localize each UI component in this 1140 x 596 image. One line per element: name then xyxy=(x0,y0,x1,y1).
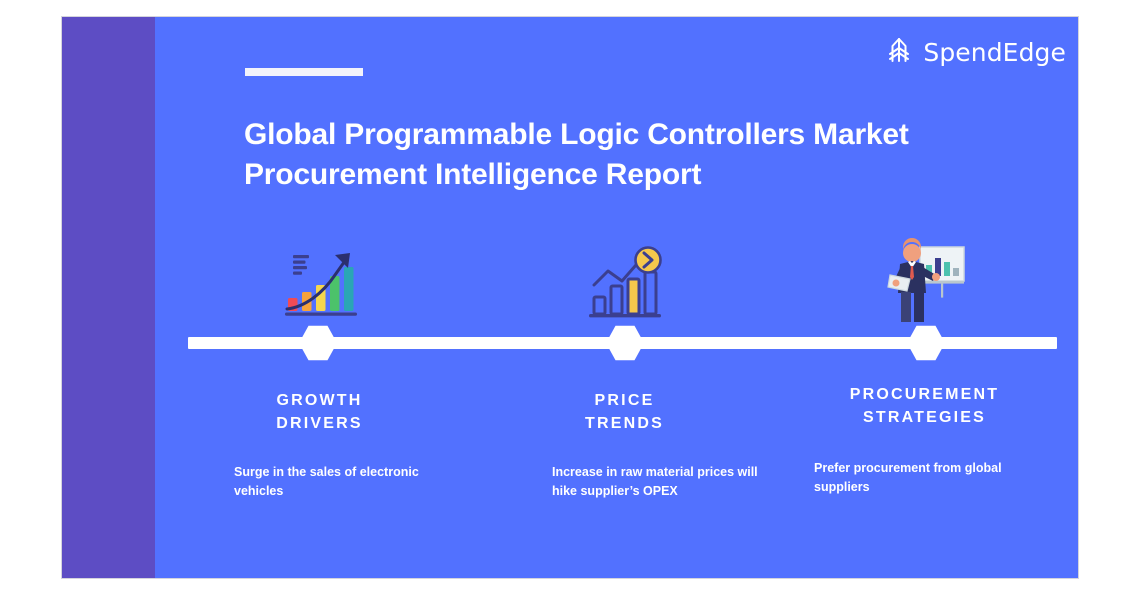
growth-bar-chart-arrow-icon xyxy=(182,239,457,325)
column-heading-line-1: PRICE xyxy=(487,389,762,412)
timeline-column-procurement-strategies: PROCUREMENT STRATEGIES Prefer procuremen… xyxy=(787,239,1062,325)
logo-wordmark: SpendEdge xyxy=(923,38,1066,67)
column-body-line-2: suppliers xyxy=(814,478,1034,497)
spendedge-trident-mark-icon xyxy=(884,35,914,70)
timeline-marker-procurement-strategies xyxy=(907,325,945,361)
column-heading-line-1: PROCUREMENT xyxy=(787,383,1062,406)
column-heading-growth-drivers: GROWTH DRIVERS xyxy=(182,389,457,435)
page-title: Global Programmable Logic Controllers Ma… xyxy=(244,115,1004,195)
column-body-procurement-strategies: Prefer procurement from global suppliers xyxy=(814,459,1034,497)
timeline-marker-growth-drivers xyxy=(299,325,337,361)
column-heading-line-2: TRENDS xyxy=(487,412,762,435)
column-heading-line-2: STRATEGIES xyxy=(787,406,1062,429)
title-accent-bar xyxy=(245,68,363,76)
screenshot-canvas: SpendEdge Global Programmable Logic Cont… xyxy=(0,0,1140,596)
page-title-line-1: Global Programmable Logic Controllers Ma… xyxy=(244,115,1004,155)
column-body-line-1: Surge in the sales of electronic xyxy=(234,463,449,482)
timeline-column-price-trends: PRICE TRENDS Increase in raw material pr… xyxy=(487,239,762,325)
column-body-line-1: Increase in raw material prices will xyxy=(552,463,787,482)
column-body-line-2: hike supplier’s OPEX xyxy=(552,482,787,501)
column-body-line-2: vehicles xyxy=(234,482,449,501)
column-body-price-trends: Increase in raw material prices will hik… xyxy=(552,463,787,501)
column-heading-line-1: GROWTH xyxy=(182,389,457,412)
page-title-line-2: Procurement Intelligence Report xyxy=(244,155,1004,195)
spendedge-logo: SpendEdge xyxy=(884,35,1066,70)
column-body-line-1: Prefer procurement from global xyxy=(814,459,1034,478)
timeline-column-growth-drivers: GROWTH DRIVERS Surge in the sales of ele… xyxy=(182,239,457,325)
price-chart-coin-icon xyxy=(487,239,762,325)
presentation-slide: SpendEdge Global Programmable Logic Cont… xyxy=(62,17,1078,578)
column-heading-line-2: DRIVERS xyxy=(182,412,457,435)
column-heading-procurement-strategies: PROCUREMENT STRATEGIES xyxy=(787,383,1062,429)
left-accent-band xyxy=(62,17,155,578)
timeline-marker-price-trends xyxy=(606,325,644,361)
presenter-businessman-chart-board-icon xyxy=(787,239,1062,325)
column-heading-price-trends: PRICE TRENDS xyxy=(487,389,762,435)
column-body-growth-drivers: Surge in the sales of electronic vehicle… xyxy=(234,463,449,501)
